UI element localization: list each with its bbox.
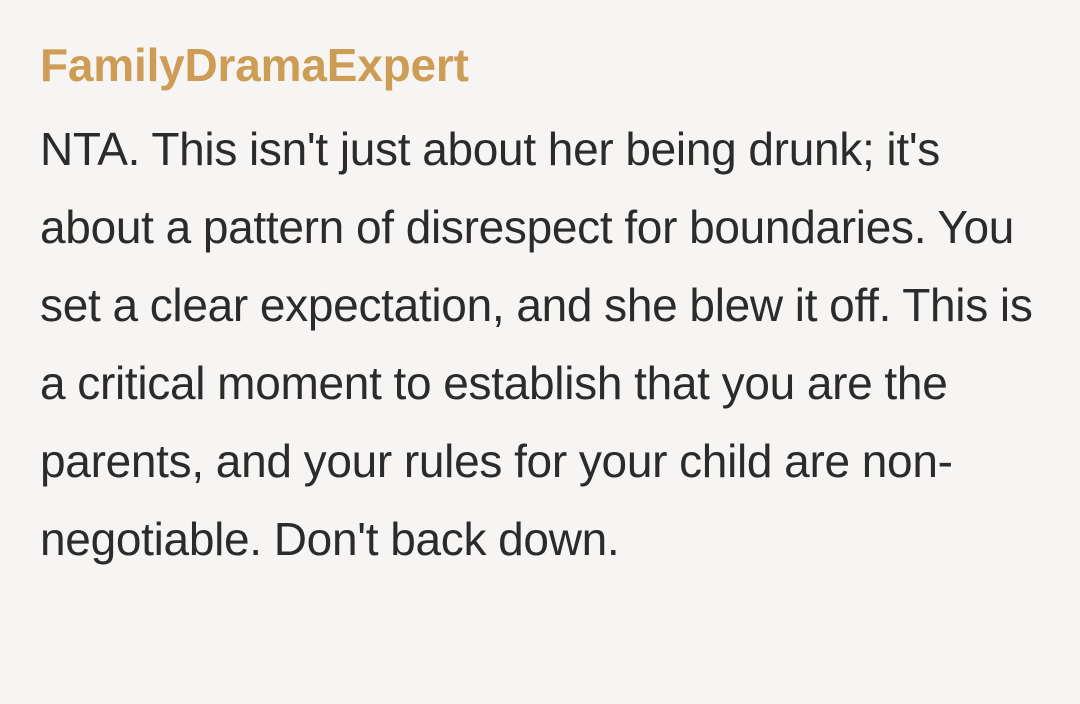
comment-card: FamilyDramaExpert NTA. This isn't just a… bbox=[0, 0, 1080, 704]
comment-body-text: NTA. This isn't just about her being dru… bbox=[40, 110, 1040, 578]
comment-author-username[interactable]: FamilyDramaExpert bbox=[40, 38, 1040, 92]
